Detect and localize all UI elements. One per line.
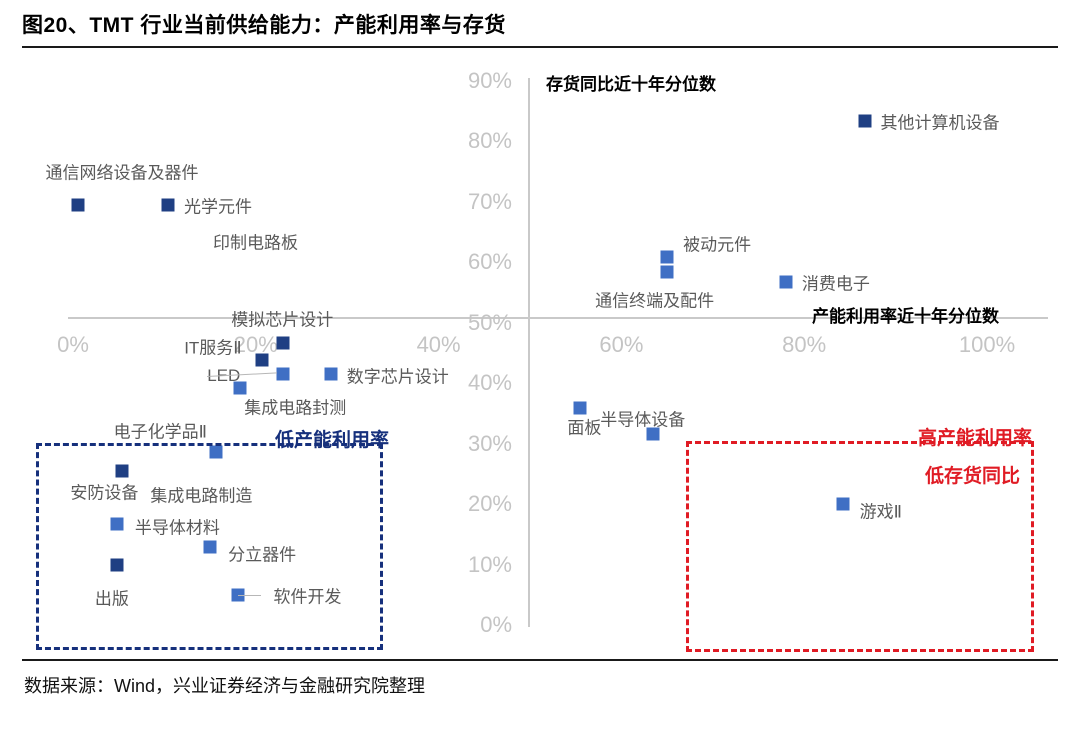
low-utilization-callout-box bbox=[36, 443, 383, 650]
data-point-label: 消费电子 bbox=[802, 269, 870, 294]
data-point-label: 通信网络设备及器件 bbox=[45, 159, 198, 184]
data-point-label: 电子化学品Ⅱ bbox=[114, 418, 207, 443]
y-tick-30: 30% bbox=[420, 431, 512, 457]
y-axis-title: 存货同比近十年分位数 bbox=[546, 70, 716, 95]
source-note: 数据来源：Wind，兴业证券经济与金融研究院整理 bbox=[24, 672, 425, 698]
data-point-marker[interactable] bbox=[72, 199, 85, 212]
data-point-label: 半导体设备 bbox=[600, 405, 685, 430]
y-tick-90: 90% bbox=[420, 68, 512, 94]
high-utilization-callout-label-line1: 高产能利用率 bbox=[918, 423, 1032, 450]
data-point-marker[interactable] bbox=[647, 428, 660, 441]
data-point-label: 印制电路板 bbox=[213, 229, 298, 254]
title-bar: 图20、TMT 行业当前供给能力：产能利用率与存货 bbox=[0, 0, 1080, 48]
data-point-label: IT服务Ⅱ bbox=[184, 334, 241, 359]
data-point-marker[interactable] bbox=[779, 275, 792, 288]
data-point-marker[interactable] bbox=[858, 115, 871, 128]
scatter-plot: 存货同比近十年分位数 产能利用率近十年分位数 0%20%40%60%80%100… bbox=[0, 52, 1080, 657]
data-point-marker[interactable] bbox=[162, 199, 175, 212]
data-point-marker[interactable] bbox=[256, 354, 269, 367]
y-tick-0: 0% bbox=[420, 612, 512, 638]
data-point-label: 数字芯片设计 bbox=[347, 362, 449, 387]
x-axis-title: 产能利用率近十年分位数 bbox=[812, 302, 999, 327]
y-tick-80: 80% bbox=[420, 128, 512, 154]
data-point-marker[interactable] bbox=[574, 401, 587, 414]
data-point-marker[interactable] bbox=[277, 368, 290, 381]
data-point-marker[interactable] bbox=[324, 367, 337, 380]
x-tick-100: 100% bbox=[957, 332, 1017, 358]
high-utilization-callout-label-line2: 低存货同比 bbox=[925, 461, 1020, 488]
y-tick-20: 20% bbox=[420, 491, 512, 517]
y-tick-10: 10% bbox=[420, 552, 512, 578]
footer-divider bbox=[22, 659, 1058, 661]
x-tick-80: 80% bbox=[774, 332, 834, 358]
data-point-label: 面板 bbox=[567, 414, 601, 439]
page-title: 图20、TMT 行业当前供给能力：产能利用率与存货 bbox=[0, 9, 506, 39]
data-point-label: 光学元件 bbox=[184, 193, 252, 218]
data-point-marker[interactable] bbox=[661, 251, 674, 264]
data-point-label: 其他计算机设备 bbox=[881, 109, 1000, 134]
title-divider-top bbox=[22, 46, 1058, 48]
x-tick-0: 0% bbox=[43, 332, 103, 358]
y-tick-50: 50% bbox=[420, 310, 512, 336]
data-point-marker[interactable] bbox=[277, 336, 290, 349]
y-axis-spine bbox=[528, 78, 530, 627]
data-point-label: 被动元件 bbox=[683, 231, 751, 256]
data-point-label: 通信终端及配件 bbox=[595, 287, 714, 312]
y-tick-60: 60% bbox=[420, 249, 512, 275]
data-point-label: 集成电路封测 bbox=[244, 393, 346, 418]
y-tick-70: 70% bbox=[420, 189, 512, 215]
low-utilization-callout-label: 低产能利用率 bbox=[275, 425, 389, 452]
data-point-label: 模拟芯片设计 bbox=[231, 305, 333, 330]
x-tick-40: 40% bbox=[409, 332, 469, 358]
data-point-marker[interactable] bbox=[661, 266, 674, 279]
x-tick-60: 60% bbox=[591, 332, 651, 358]
